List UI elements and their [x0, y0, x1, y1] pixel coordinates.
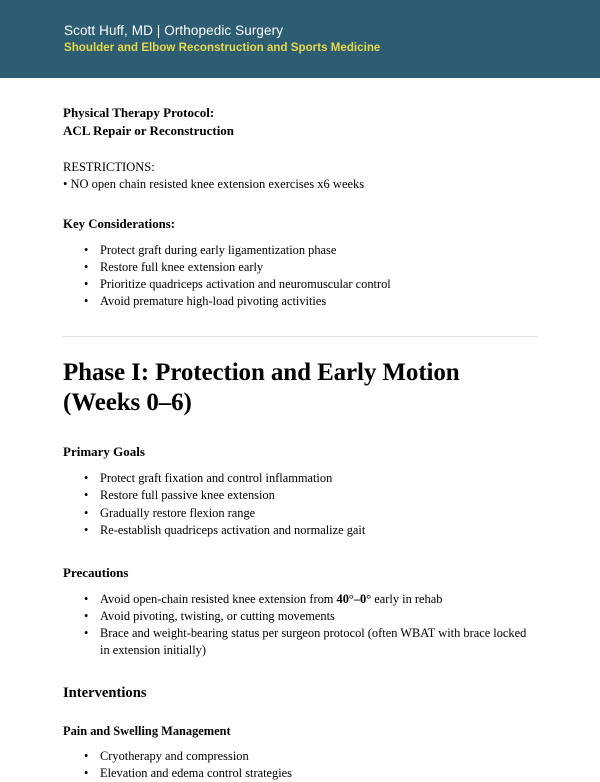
- restrictions-block: RESTRICTIONS: • NO open chain resisted k…: [63, 159, 537, 194]
- list-item: Restore full knee extension early: [63, 259, 537, 276]
- list-item: Brace and weight-bearing status per surg…: [63, 625, 537, 659]
- list-item: Gradually restore flexion range: [63, 505, 537, 522]
- list-item: Re-establish quadriceps activation and n…: [63, 522, 537, 539]
- list-item: Elevation and edema control strategies: [63, 765, 537, 782]
- practice-tagline: Shoulder and Elbow Reconstruction and Sp…: [64, 41, 536, 57]
- list-item: Restore full passive knee extension: [63, 487, 537, 504]
- pain-swelling-heading: Pain and Swelling Management: [63, 723, 537, 739]
- phase-heading: Phase I: Protection and Early Motion (We…: [63, 358, 537, 418]
- precaution-text-prefix: Avoid pivoting, twisting, or cutting mov…: [100, 609, 335, 623]
- list-item: Avoid open-chain resisted knee extension…: [63, 591, 537, 608]
- precautions-heading: Precautions: [63, 565, 537, 582]
- list-item: Avoid pivoting, twisting, or cutting mov…: [63, 608, 537, 625]
- list-item: Protect graft fixation and control infla…: [63, 470, 537, 487]
- restrictions-item: • NO open chain resisted knee extension …: [63, 176, 537, 193]
- key-considerations-list: Protect graft during early ligamentizati…: [63, 242, 537, 310]
- interventions-heading: Interventions: [63, 684, 537, 703]
- precautions-list: Avoid open-chain resisted knee extension…: [63, 591, 537, 659]
- precaution-range-emphasis: 40°–0°: [337, 592, 372, 606]
- section-divider: [63, 336, 537, 337]
- pain-swelling-list: Cryotherapy and compression Elevation an…: [63, 748, 537, 782]
- document-title: Physical Therapy Protocol: ACL Repair or…: [63, 78, 537, 141]
- document-body: Physical Therapy Protocol: ACL Repair or…: [0, 78, 600, 782]
- precaution-text-prefix: Brace and weight-bearing status per surg…: [100, 626, 526, 657]
- list-item: Avoid premature high-load pivoting activ…: [63, 293, 537, 310]
- practitioner-name: Scott Huff, MD | Orthopedic Surgery: [64, 22, 536, 40]
- list-item: Protect graft during early ligamentizati…: [63, 242, 537, 259]
- key-considerations-heading: Key Considerations:: [63, 216, 537, 233]
- document-title-line-2: ACL Repair or Reconstruction: [63, 122, 537, 140]
- list-item: Cryotherapy and compression: [63, 748, 537, 765]
- precaution-text-suffix: early in rehab: [371, 592, 442, 606]
- primary-goals-list: Protect graft fixation and control infla…: [63, 470, 537, 538]
- list-item: Prioritize quadriceps activation and neu…: [63, 276, 537, 293]
- primary-goals-heading: Primary Goals: [63, 444, 537, 461]
- document-title-line-1: Physical Therapy Protocol:: [63, 104, 537, 122]
- restrictions-label: RESTRICTIONS:: [63, 159, 537, 176]
- precaution-text-prefix: Avoid open-chain resisted knee extension…: [100, 592, 337, 606]
- site-header: Scott Huff, MD | Orthopedic Surgery Shou…: [0, 0, 600, 78]
